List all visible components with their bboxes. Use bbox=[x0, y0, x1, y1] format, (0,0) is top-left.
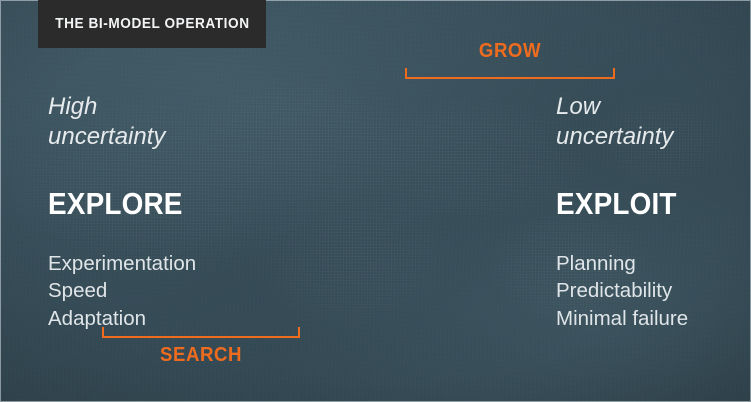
search-bracket-cap-right-icon bbox=[298, 327, 300, 338]
grow-bracket-label: GROW bbox=[412, 40, 607, 63]
exploit-uncertainty-label: Low uncertainty bbox=[556, 92, 751, 152]
exploit-column: Low uncertainty EXPLOIT Planning Predict… bbox=[556, 92, 751, 333]
list-item: Minimal failure bbox=[556, 305, 751, 333]
grow-bracket-rule bbox=[405, 77, 615, 79]
explore-uncertainty-label: High uncertainty bbox=[48, 92, 338, 152]
exploit-attribute-list: Planning Predictability Minimal failure bbox=[556, 250, 751, 334]
list-item: Experimentation bbox=[48, 250, 338, 278]
list-item: Speed bbox=[48, 277, 338, 305]
search-bracket-rule bbox=[102, 336, 300, 338]
grow-bracket: GROW bbox=[405, 40, 615, 79]
grow-bracket-cap-right-icon bbox=[613, 68, 615, 79]
bi-model-operation-infographic: THE BI-MODEL OPERATION GROW High uncerta… bbox=[0, 0, 751, 402]
title-badge-label: THE BI-MODEL OPERATION bbox=[55, 16, 249, 32]
search-bracket-label: SEARCH bbox=[109, 344, 293, 367]
explore-column: High uncertainty EXPLORE Experimentation… bbox=[48, 92, 338, 333]
explore-heading: EXPLORE bbox=[48, 186, 309, 222]
search-bracket: SEARCH bbox=[102, 326, 300, 367]
explore-attribute-list: Experimentation Speed Adaptation bbox=[48, 250, 338, 334]
search-bracket-line bbox=[102, 326, 300, 338]
title-badge: THE BI-MODEL OPERATION bbox=[38, 0, 266, 48]
list-item: Predictability bbox=[556, 277, 751, 305]
exploit-heading: EXPLOIT bbox=[556, 186, 751, 222]
list-item: Planning bbox=[556, 250, 751, 278]
grow-bracket-line bbox=[405, 67, 615, 79]
